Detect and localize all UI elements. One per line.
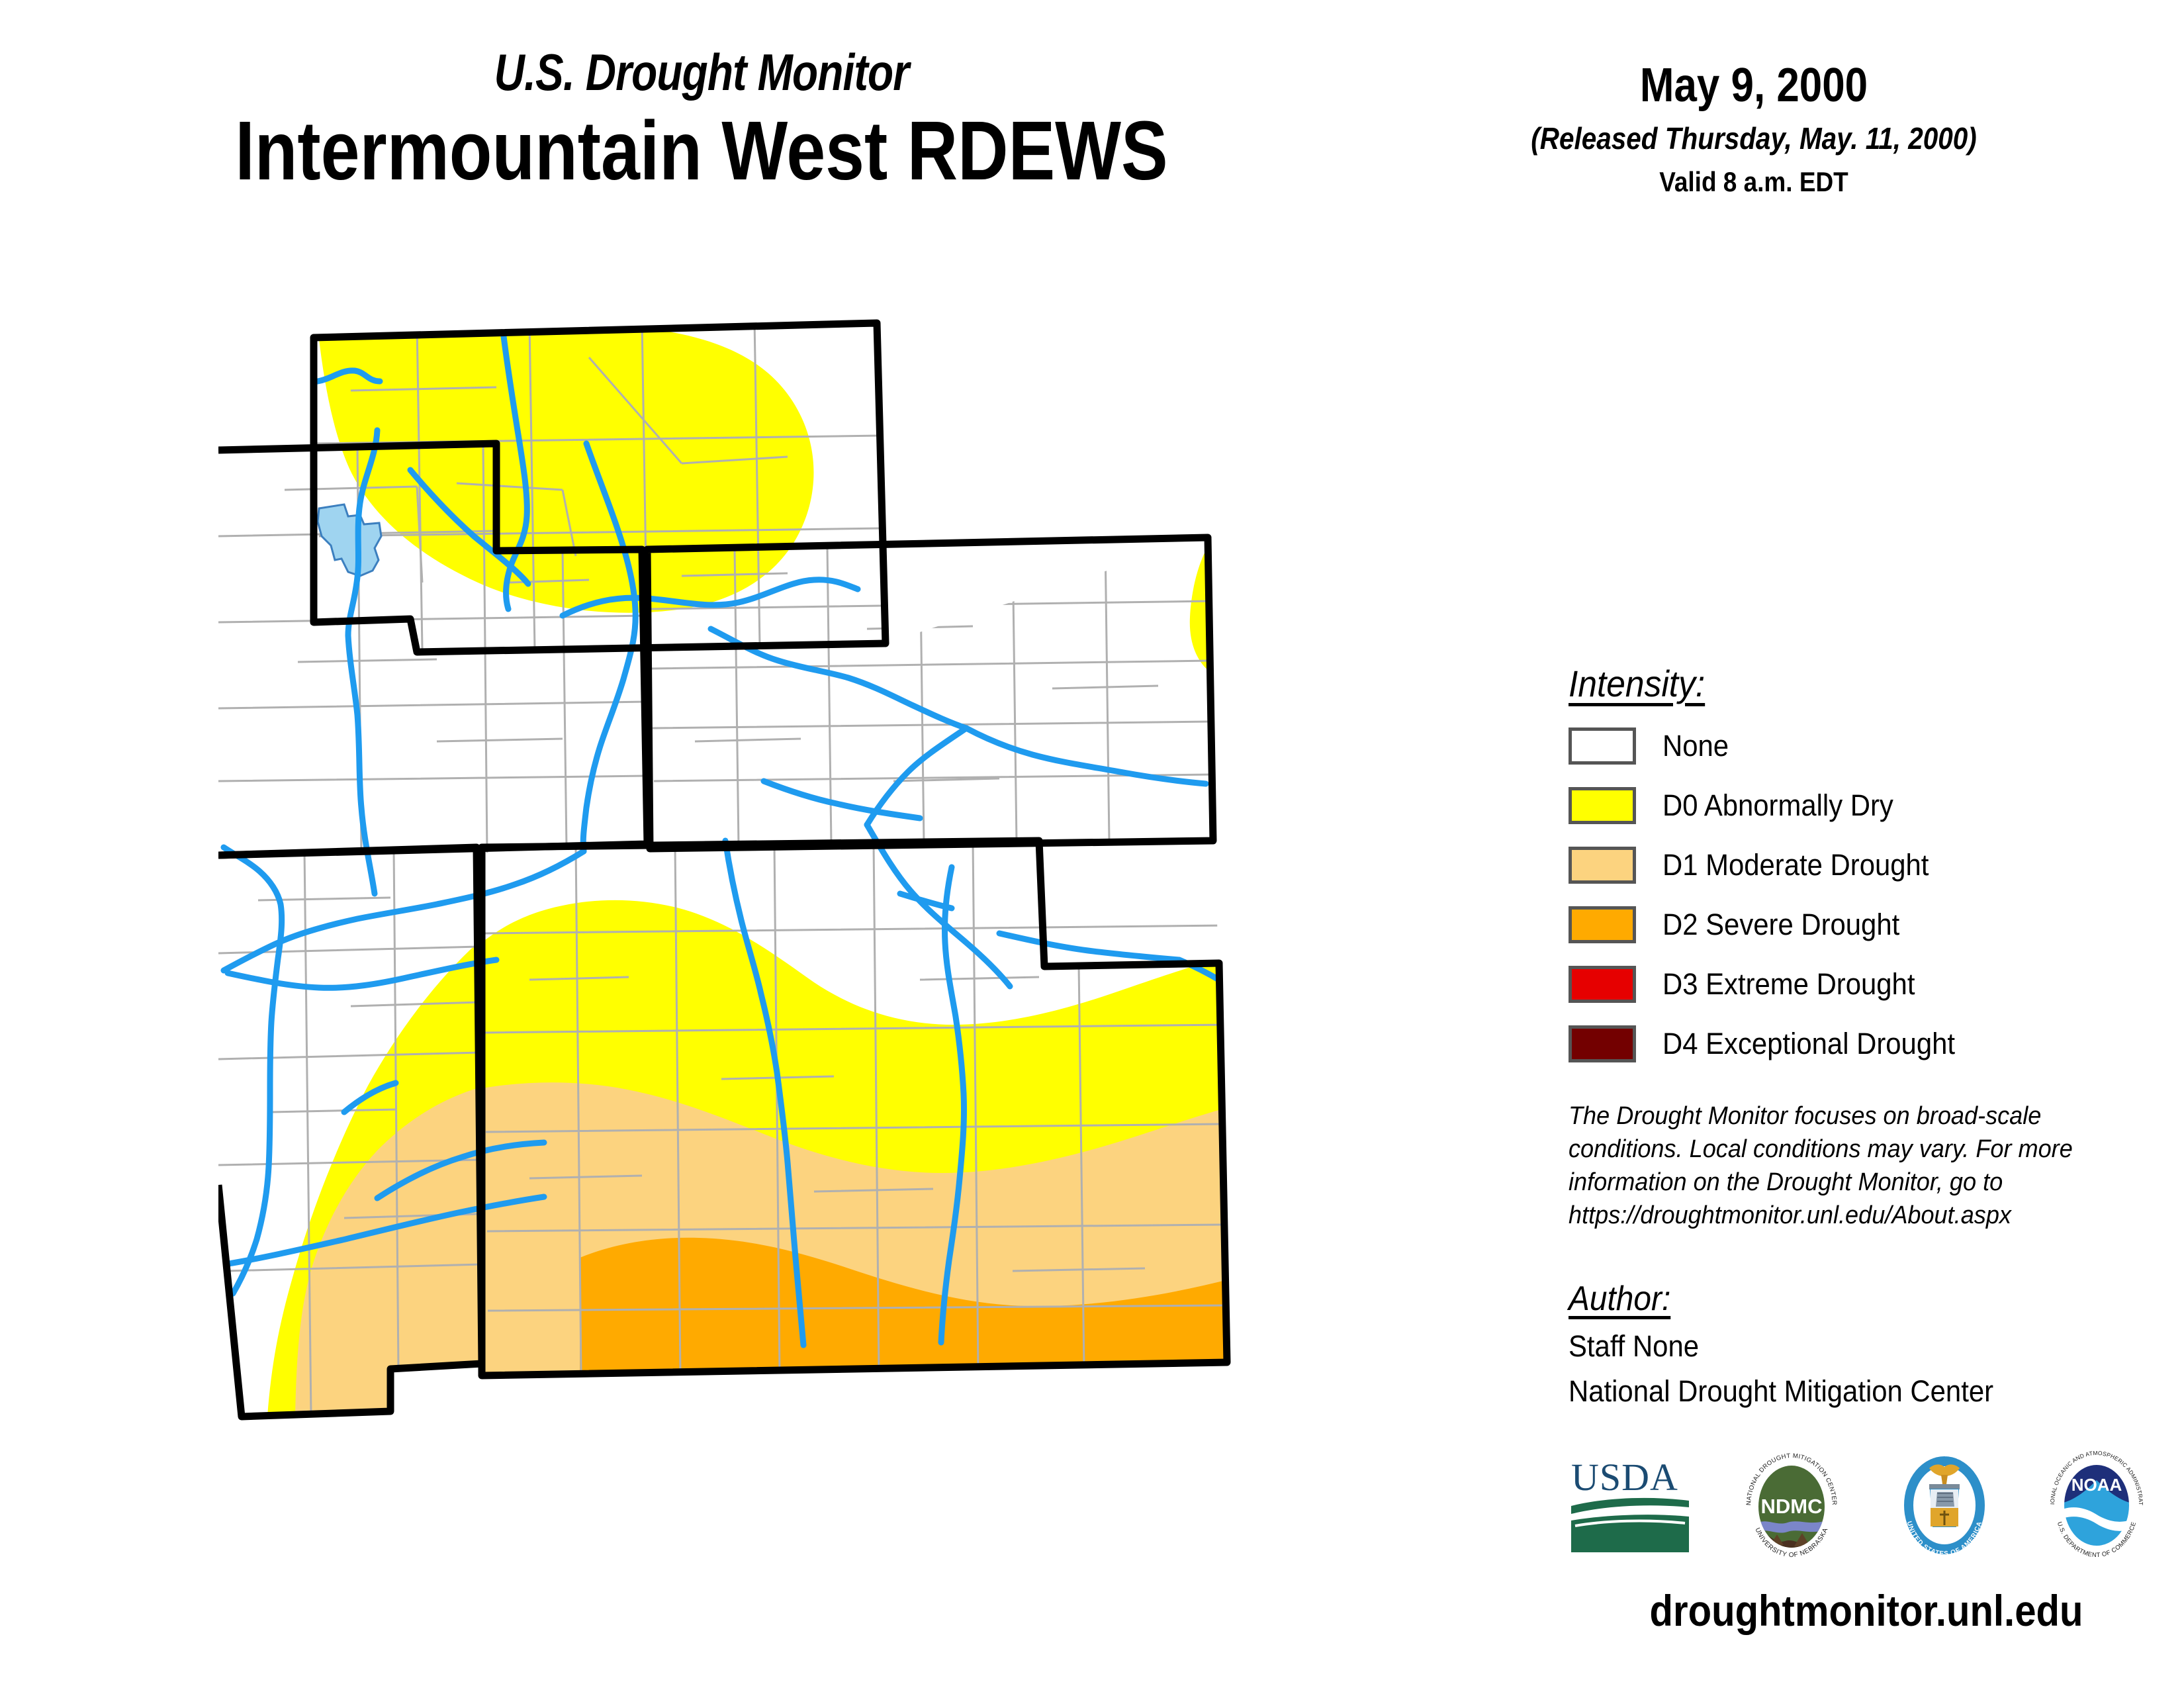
legend-item-d2[interactable]: D2 Severe Drought [1569, 900, 2164, 950]
legend-swatch-d1 [1569, 847, 1636, 884]
legend-item-d4[interactable]: D4 Exceptional Drought [1569, 1019, 2164, 1069]
legend-swatch-none [1569, 727, 1636, 765]
legend-item-d1[interactable]: D1 Moderate Drought [1569, 840, 2164, 890]
legend-panel: Intensity: None D0 Abnormally Dry D1 Mod… [1569, 662, 2164, 1409]
release-date: (Released Thursday, May. 11, 2000) [1451, 122, 2056, 156]
valid-date: May 9, 2000 [1458, 61, 2050, 111]
usda-logo: USDA [1569, 1452, 1692, 1561]
site-url[interactable]: droughtmonitor.unl.edu [1604, 1585, 2128, 1636]
svg-text:USDA: USDA [1571, 1456, 1678, 1499]
page-subtitle: U.S. Drought Monitor [191, 46, 1212, 98]
date-block: May 9, 2000 (Released Thursday, May. 11,… [1410, 61, 2098, 197]
legend-label-d0: D0 Abnormally Dry [1662, 788, 1893, 823]
legend-swatch-d0 [1569, 787, 1636, 824]
disclaimer-text: The Drought Monitor focuses on broad-sca… [1569, 1100, 2122, 1233]
legend-item-d0[interactable]: D0 Abnormally Dry [1569, 780, 2164, 831]
legend-title: Intensity: [1569, 662, 2116, 705]
legend-swatch-d3 [1569, 966, 1636, 1003]
doc-logo: DEPARTMENT OF COMMERCE UNITED STATES OF … [1891, 1446, 1998, 1567]
legend-label-none: None [1662, 729, 1729, 763]
drought-map[interactable] [218, 318, 1449, 1615]
noaa-logo: NOAA NATIONAL OCEANIC AND ATMOSPHERIC AD… [2042, 1446, 2151, 1567]
legend-label-d1: D1 Moderate Drought [1662, 848, 1929, 882]
author-heading: Author: [1569, 1279, 2116, 1319]
page-title: Intermountain West RDEWS [179, 107, 1224, 195]
partner-logos: USDA NDMC NATIONAL DROUGHT MITIGATION CE [1569, 1443, 2151, 1569]
legend-label-d4: D4 Exceptional Drought [1662, 1027, 1955, 1061]
legend-label-d2: D2 Severe Drought [1662, 908, 1899, 942]
legend-item-none[interactable]: None [1569, 721, 2164, 771]
legend-label-d3: D3 Extreme Drought [1662, 967, 1915, 1002]
legend-item-d3[interactable]: D3 Extreme Drought [1569, 959, 2164, 1009]
page-header: U.S. Drought Monitor Intermountain West … [0, 0, 2184, 278]
valid-time: Valid 8 a.m. EDT [1451, 167, 2056, 197]
ndmc-logo: NDMC NATIONAL DROUGHT MITIGATION CENTER … [1736, 1446, 1847, 1567]
title-block: U.S. Drought Monitor Intermountain West … [79, 46, 1324, 195]
author-org: National Drought Mitigation Center [1569, 1374, 2122, 1409]
svg-text:NOAA: NOAA [2071, 1475, 2122, 1495]
svg-text:NDMC: NDMC [1760, 1495, 1822, 1518]
legend-swatch-d2 [1569, 906, 1636, 943]
author-name: Staff None [1569, 1329, 2122, 1364]
legend-swatch-d4 [1569, 1025, 1636, 1062]
map-canvas[interactable] [218, 318, 1449, 1615]
